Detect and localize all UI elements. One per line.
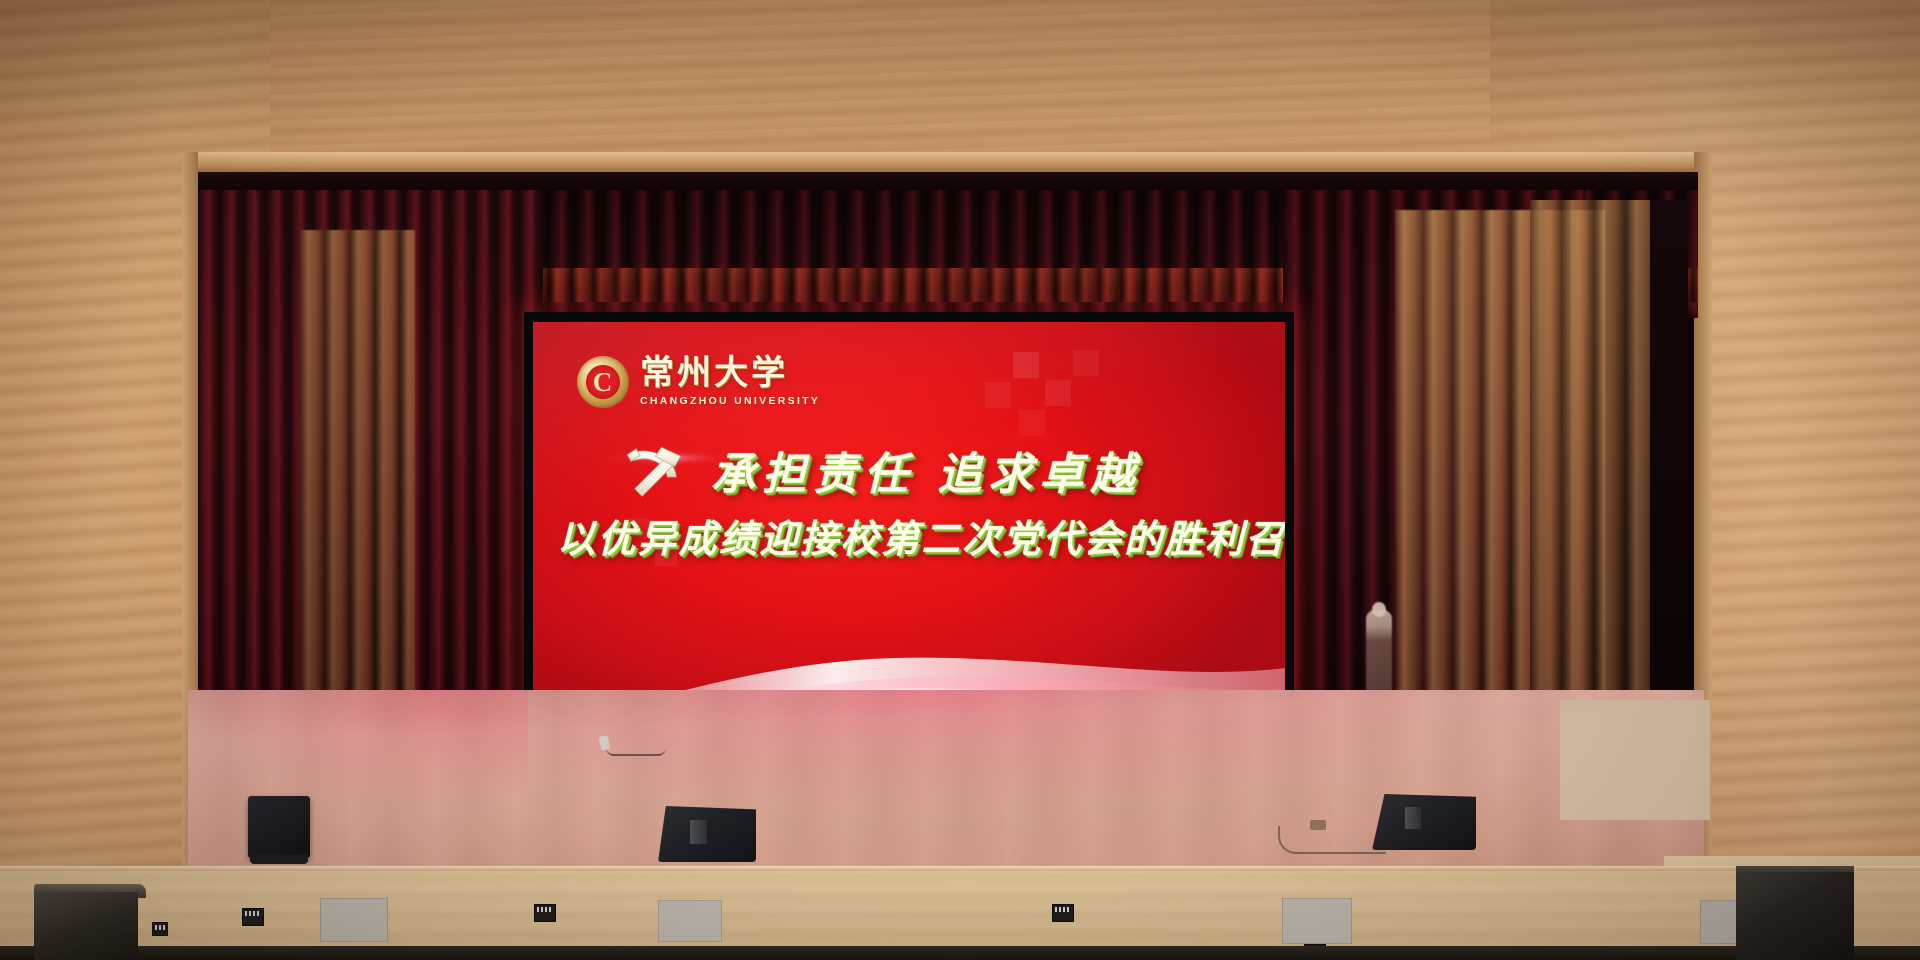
wall-socket [242, 908, 264, 926]
apron-acoustic-panel [320, 898, 388, 942]
university-emblem-icon: C [577, 356, 629, 408]
mosaic-square [1045, 380, 1071, 406]
monitor-speaker-right [1372, 794, 1476, 850]
mosaic-square [1019, 410, 1045, 436]
stage-floor-light-pool [420, 690, 1420, 810]
stage-photo: C 常州大学 CHANGZHOU UNIVERSITY [0, 0, 1920, 960]
hammer-and-sickle-icon [617, 434, 691, 508]
university-name-block: 常州大学 CHANGZHOU UNIVERSITY [640, 357, 820, 407]
stage-apron-edge [0, 866, 1920, 871]
screen-headline: 承担责任 追求卓越 [711, 438, 1141, 502]
stage-floor-light-pool-left [188, 690, 528, 810]
apron-acoustic-panel [1282, 898, 1352, 944]
mosaic-square [985, 382, 1011, 408]
proscenium-trim-top [182, 152, 1710, 174]
monitor-speaker-left-base [250, 854, 308, 864]
wall-socket [1052, 904, 1074, 922]
university-name-en: CHANGZHOU UNIVERSITY [640, 395, 820, 407]
monitor-speaker-left [248, 796, 310, 858]
university-name-cn: 常州大学 [640, 357, 820, 392]
wall-socket [152, 922, 168, 936]
apron-acoustic-panel [658, 900, 722, 942]
wall-socket [534, 904, 556, 922]
floor-base-band [0, 946, 1920, 960]
emblem-letter: C [593, 369, 613, 396]
speaker-cable-right [1278, 826, 1386, 854]
led-screen[interactable]: C 常州大学 CHANGZHOU UNIVERSITY [533, 322, 1285, 734]
curtain-leg-right-outer [1530, 200, 1650, 700]
cable-connector [1310, 820, 1326, 830]
university-logo: C 常州大学 CHANGZHOU UNIVERSITY [577, 356, 820, 408]
floor-cabinet-right [1736, 872, 1854, 960]
screen-subline: 以优异成绩迎接校第二次党代会的胜利召开 [557, 508, 1285, 563]
floor-cabinet-left [34, 892, 138, 960]
speaker-cable-center [606, 744, 666, 756]
curtain-leg-left-lit [300, 230, 415, 700]
monitor-speaker-center-grille [690, 820, 707, 844]
person-head [1372, 602, 1386, 617]
mosaic-square [1073, 350, 1099, 376]
monitor-speaker-center [658, 806, 756, 862]
monitor-speaker-right-grille [1405, 807, 1421, 829]
proscenium-inner-shadow [198, 172, 1698, 192]
mosaic-square [1013, 352, 1039, 378]
stage-floor-right-wing [1560, 700, 1710, 820]
